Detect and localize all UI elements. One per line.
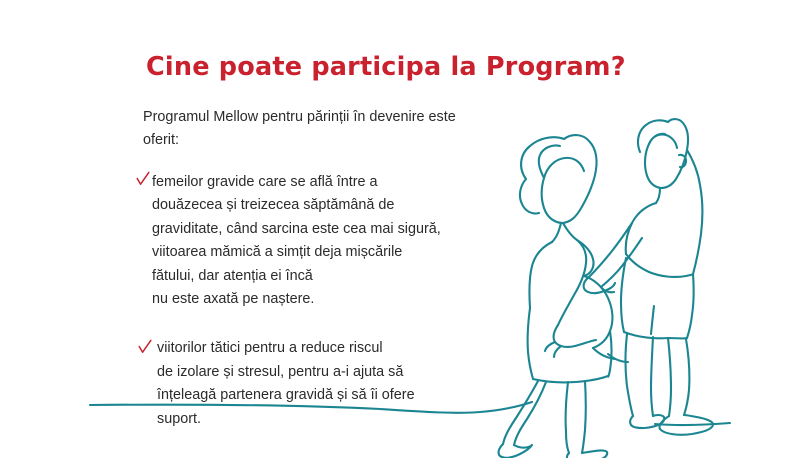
page-title: Cine poate participa la Program? [146, 52, 626, 82]
slide-canvas: Cine poate participa la Program? Program… [0, 0, 800, 469]
ground-line-right [655, 423, 730, 425]
line-art-pregnant-couple-illustration [80, 118, 740, 458]
couple-line-drawing [80, 118, 740, 458]
ground-line-left [90, 402, 532, 413]
